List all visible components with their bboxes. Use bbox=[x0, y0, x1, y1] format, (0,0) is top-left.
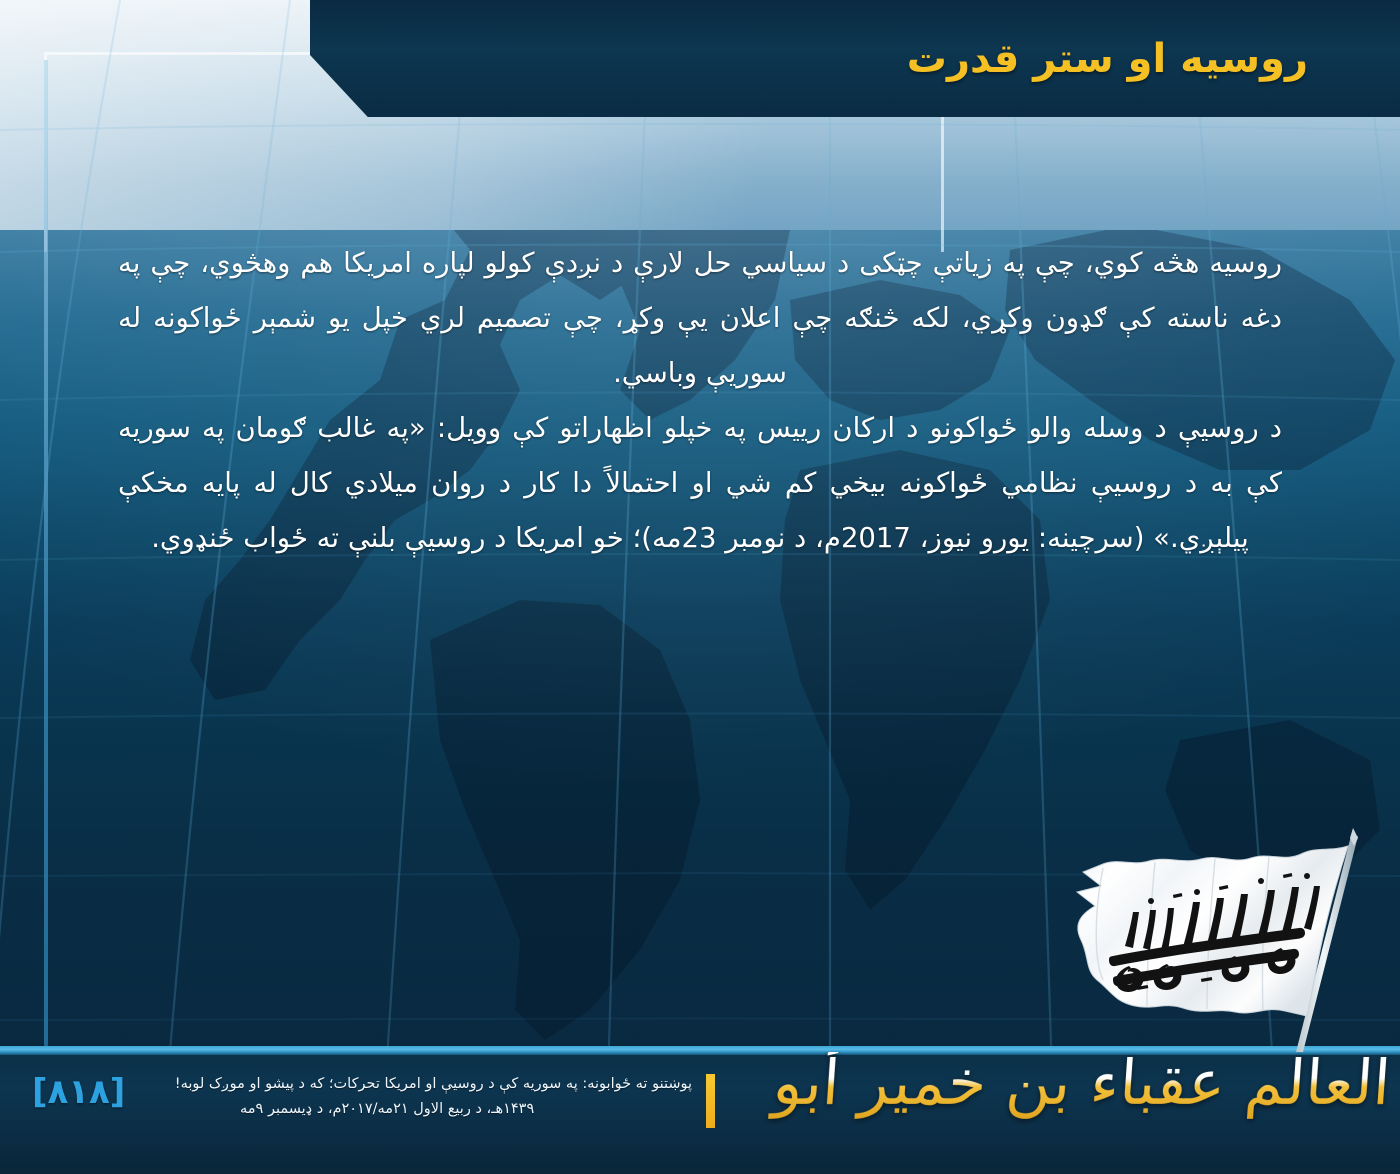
page-number: [۸۱۸] bbox=[32, 1072, 125, 1112]
calligraphy-text: العالم عقباء بن خمير أبو السرشته bbox=[760, 1052, 1393, 1119]
article-paragraph-1: روسیه هڅه کوي، چې په زیاتې چټکی د سیاسي … bbox=[118, 236, 1282, 401]
frame-vertical-line bbox=[44, 60, 48, 1050]
footer-separator-bar bbox=[706, 1074, 715, 1128]
shahada-flag bbox=[1055, 828, 1385, 1060]
article-paragraph-2: د روسیې د وسله والو ځواکونو د ارکان رییس… bbox=[118, 401, 1282, 566]
footer-caption-line-1: پوښتنو ته ځوابونه: په سوریه کې د روسیې ا… bbox=[240, 1072, 692, 1097]
article-body: روسیه هڅه کوي، چې په زیاتې چټکی د سیاسي … bbox=[118, 236, 1282, 566]
footer-caption: پوښتنو ته ځوابونه: په سوریه کې د روسیې ا… bbox=[240, 1072, 692, 1122]
poster-page: روسیه او ستر قدرت روسیه هڅه کوي، چې په ز… bbox=[0, 0, 1400, 1174]
footer-caption-line-2: ۱۴۳۹هـ، د ربیع الاول ۲۱مه/۲۰۱۷م، د ډیسمب… bbox=[240, 1097, 692, 1122]
publication-calligraphy-logo: العالم عقباء بن خمير أبو السرشته bbox=[760, 1052, 1400, 1162]
page-title: روسیه او ستر قدرت bbox=[310, 0, 1400, 117]
